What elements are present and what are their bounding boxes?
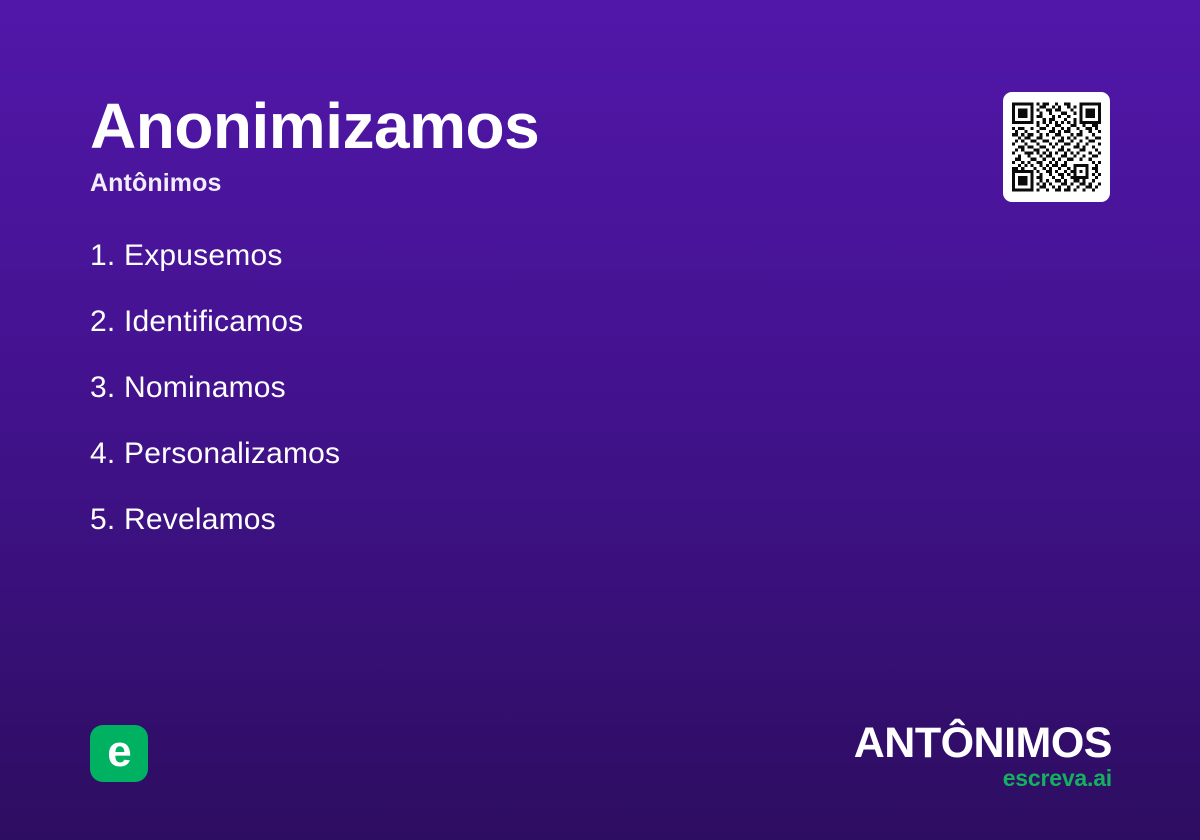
- list-item-word: Expusemos: [124, 239, 283, 272]
- escreva-e-icon[interactable]: e: [90, 725, 148, 782]
- page-title: Anonimizamos: [90, 92, 910, 160]
- logo-lockup: ANTÔNIMOS escreva.ai: [854, 722, 1112, 791]
- list-item-word: Revelamos: [124, 503, 276, 536]
- list-item-index: 1.: [90, 238, 124, 274]
- list-item-word: Personalizamos: [124, 437, 340, 470]
- list-item: 2.Identificamos: [90, 304, 850, 340]
- list-item-index: 5.: [90, 502, 124, 538]
- header: Anonimizamos Antônimos: [90, 92, 910, 198]
- list-item: 4.Personalizamos: [90, 436, 850, 472]
- qr-code-icon: [1012, 101, 1101, 193]
- list-item-word: Nominamos: [124, 371, 286, 404]
- list-item-index: 2.: [90, 304, 124, 340]
- list-item: 3.Nominamos: [90, 370, 850, 406]
- brandmark-letter: e: [107, 730, 130, 774]
- antonym-list: 1.Expusemos 2.Identificamos 3.Nominamos …: [90, 238, 850, 538]
- list-item: 1.Expusemos: [90, 238, 850, 274]
- list-item-index: 4.: [90, 436, 124, 472]
- list-item-word: Identificamos: [124, 305, 303, 338]
- page-subtitle: Antônimos: [90, 168, 910, 198]
- qr-code-panel[interactable]: [1003, 92, 1110, 202]
- logo-wordmark: ANTÔNIMOS: [854, 722, 1112, 765]
- list-item: 5.Revelamos: [90, 502, 850, 538]
- logo-tagline: escreva.ai: [854, 766, 1112, 791]
- list-item-index: 3.: [90, 370, 124, 406]
- antonimos-card: Anonimizamos Antônimos 1.Expusemos 2.Ide…: [0, 0, 1200, 840]
